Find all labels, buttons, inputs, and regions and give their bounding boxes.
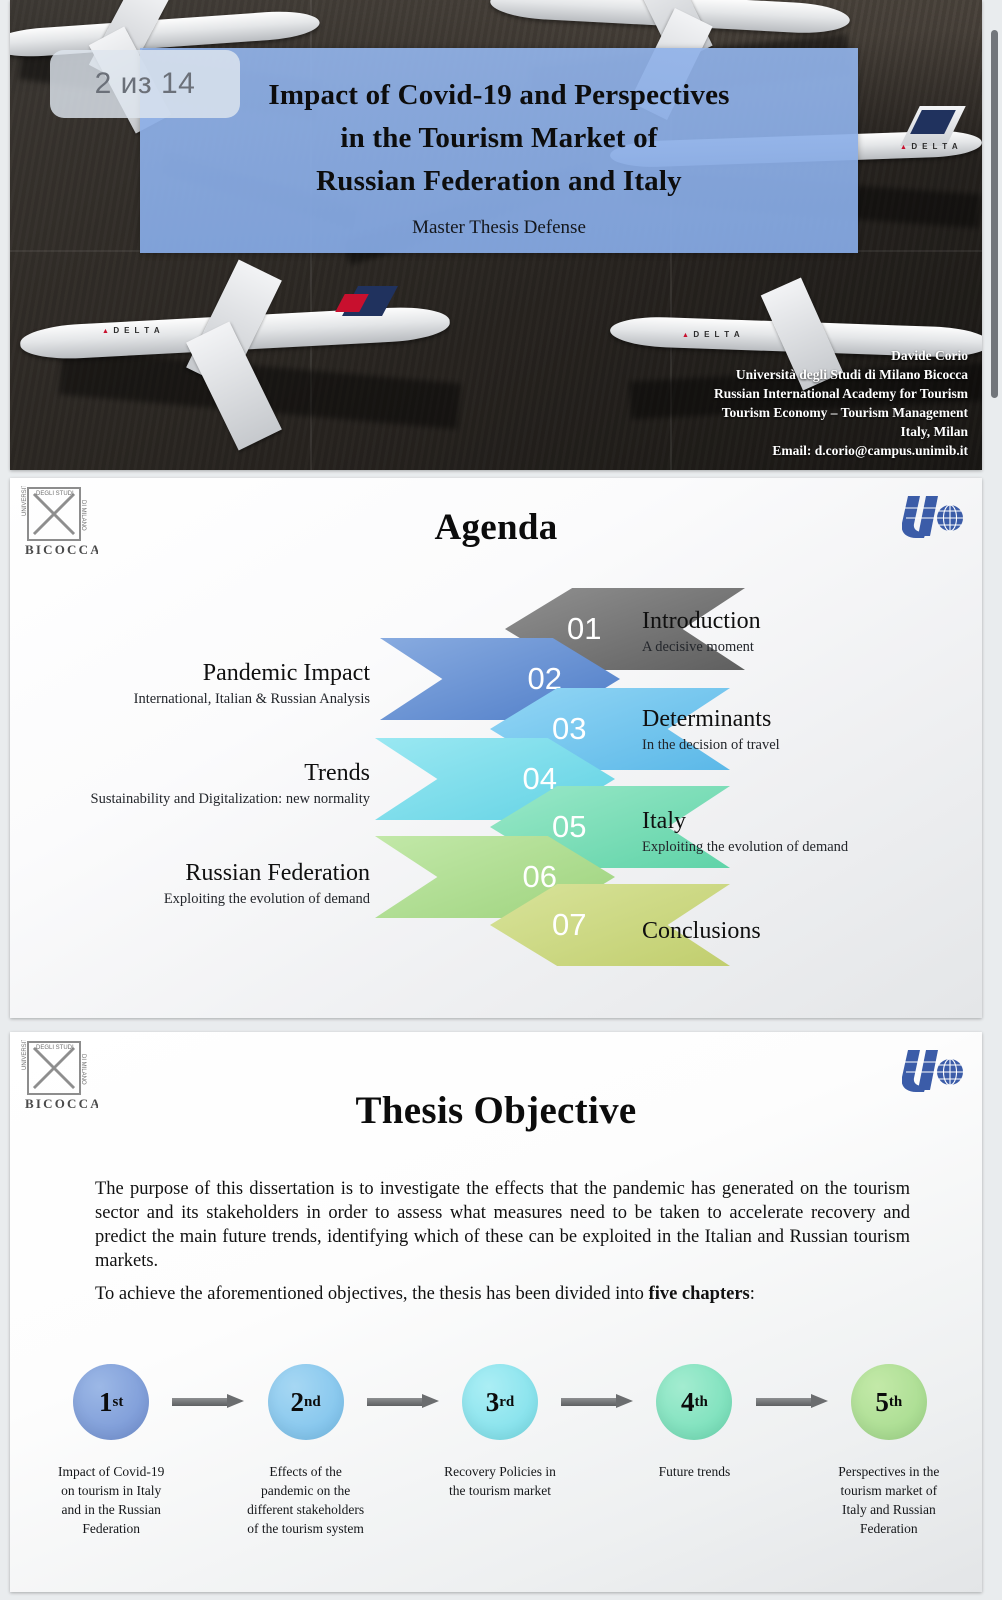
agenda-heading: Introduction <box>642 608 972 635</box>
document-viewer[interactable]: D E L T A D E L T A D E L T A <box>0 0 1002 1600</box>
agenda-subtext: Sustainability and Digitalization: new n… <box>20 789 370 809</box>
riat-logo <box>902 1046 964 1092</box>
chapter-caption-2: Effects of the pandemic on the different… <box>244 1462 366 1538</box>
agenda-title: Agenda <box>10 506 982 549</box>
chapter-ordinal-3: 3 <box>486 1387 500 1418</box>
agenda-item-italy[interactable]: Italy Exploiting the evolution of demand <box>642 808 972 857</box>
chapter-ordinal-1: 1 <box>99 1387 113 1418</box>
agenda-heading: Trends <box>20 760 370 787</box>
chapter-ordinal-4: 4 <box>681 1387 695 1418</box>
chapter-circle-5[interactable]: 5th <box>851 1364 927 1440</box>
svg-text:DEGLI STUDI: DEGLI STUDI <box>36 491 74 497</box>
title-line-3: Russian Federation and Italy <box>316 165 682 197</box>
chapters-intro-before: To achieve the aforementioned objectives… <box>95 1284 649 1304</box>
chapter-item-5[interactable]: 5th Perspectives in the tourism market o… <box>828 1364 950 1538</box>
agenda-heading: Russian Federation <box>20 860 370 887</box>
chapter-item-1[interactable]: 1st Impact of Covid-19 on tourism in Ita… <box>50 1364 172 1538</box>
chapter-caption-1: Impact of Covid-19 on tourism in Italy a… <box>50 1462 172 1538</box>
author-program: Tourism Economy – Tourism Management <box>714 403 968 422</box>
author-academy: Russian International Academy for Touris… <box>714 384 968 403</box>
title-line-2: in the Tourism Market of <box>340 122 657 154</box>
flow-arrow-2 <box>367 1364 439 1440</box>
agenda-number-03: 03 <box>552 711 586 747</box>
page-title: Impact of Covid-19 and Perspectives in t… <box>268 74 729 203</box>
agenda-number-01: 01 <box>567 611 601 647</box>
agenda-number-07: 07 <box>552 907 586 943</box>
chapter-circle-1[interactable]: 1st <box>73 1364 149 1440</box>
flow-arrow-3 <box>561 1364 633 1440</box>
author-block: Davide Corio Università degli Studi di M… <box>714 346 968 460</box>
chapters-intro-after: : <box>750 1284 755 1304</box>
agenda-item-conclusions[interactable]: Conclusions <box>642 918 972 945</box>
chapter-caption-5: Perspectives in the tourism market of It… <box>828 1462 950 1538</box>
agenda-item-russian-federation[interactable]: Russian Federation Exploiting the evolut… <box>20 860 370 909</box>
agenda-heading: Conclusions <box>642 918 972 945</box>
author-name: Davide Corio <box>714 346 968 365</box>
svg-text:DI MILANO: DI MILANO <box>80 1054 86 1085</box>
agenda-item-determinants[interactable]: Determinants In the decision of travel <box>642 706 972 755</box>
title-plate: Impact of Covid-19 and Perspectives in t… <box>140 48 858 253</box>
agenda-subtext: Exploiting the evolution of demand <box>642 837 972 857</box>
chapter-circle-4[interactable]: 4th <box>656 1364 732 1440</box>
vertical-scrollbar[interactable] <box>991 30 998 398</box>
chapter-suffix-1: st <box>113 1394 124 1411</box>
agenda-item-trends[interactable]: Trends Sustainability and Digitalization… <box>20 760 370 809</box>
chapter-item-2[interactable]: 2nd Effects of the pandemic on the diffe… <box>244 1364 366 1538</box>
chapters-intro-bold: five chapters <box>649 1284 750 1304</box>
agenda-item-pandemic-impact[interactable]: Pandemic Impact International, Italian &… <box>20 660 370 709</box>
agenda-subtext: In the decision of travel <box>642 735 972 755</box>
author-location: Italy, Milan <box>714 422 968 441</box>
objective-paragraph: The purpose of this dissertation is to i… <box>95 1177 910 1273</box>
agenda-number-05: 05 <box>552 809 586 845</box>
chapter-suffix-3: rd <box>499 1394 514 1411</box>
chapter-caption-4: Future trends <box>659 1462 731 1481</box>
agenda-heading: Pandemic Impact <box>20 660 370 687</box>
agenda-chevron-stack: 01 02 03 04 05 06 07 <box>365 588 635 958</box>
agenda-heading: Italy <box>642 808 972 835</box>
agenda-subtext: Exploiting the evolution of demand <box>20 889 370 909</box>
chapter-item-4[interactable]: 4th Future trends <box>633 1364 755 1481</box>
title-line-1: Impact of Covid-19 and Perspectives <box>268 79 729 111</box>
chapter-circle-2[interactable]: 2nd <box>268 1364 344 1440</box>
chapter-suffix-2: nd <box>304 1394 321 1411</box>
chapter-circle-3[interactable]: 3rd <box>462 1364 538 1440</box>
slide-agenda[interactable]: UNIVERSITÀ DEGLI STUDI DI MILANO BICOCCA… <box>10 478 982 1018</box>
svg-text:DEGLI STUDI: DEGLI STUDI <box>36 1045 74 1051</box>
slide-thesis-objective[interactable]: UNIVERSITÀ DEGLI STUDI DI MILANO BICOCCA… <box>10 1032 982 1592</box>
chapters-intro: To achieve the aforementioned objectives… <box>95 1282 910 1306</box>
chapter-suffix-4: th <box>695 1394 708 1411</box>
page-indicator: 2 из 14 <box>50 50 240 118</box>
agenda-heading: Determinants <box>642 706 972 733</box>
chapter-flow: 1st Impact of Covid-19 on tourism in Ita… <box>50 1364 950 1538</box>
airplane: D E L T A <box>20 270 480 450</box>
chapter-caption-3: Recovery Policies in the tourism market <box>439 1462 561 1500</box>
chapter-item-3[interactable]: 3rd Recovery Policies in the tourism mar… <box>439 1364 561 1500</box>
flow-arrow-1 <box>172 1364 244 1440</box>
svg-text:UNIVERSITÀ: UNIVERSITÀ <box>21 1040 28 1070</box>
title-subtitle: Master Thesis Defense <box>412 217 586 239</box>
chapter-suffix-5: th <box>889 1394 902 1411</box>
flow-arrow-4 <box>756 1364 828 1440</box>
author-email: Email: d.corio@campus.unimib.it <box>714 441 968 460</box>
author-university: Università degli Studi di Milano Bicocca <box>714 365 968 384</box>
thesis-objective-title: Thesis Objective <box>10 1088 982 1133</box>
chapter-ordinal-2: 2 <box>291 1387 305 1418</box>
agenda-item-introduction[interactable]: Introduction A decisive moment <box>642 608 972 657</box>
agenda-subtext: A decisive moment <box>642 637 972 657</box>
agenda-subtext: International, Italian & Russian Analysi… <box>20 689 370 709</box>
chapter-ordinal-5: 5 <box>875 1387 889 1418</box>
